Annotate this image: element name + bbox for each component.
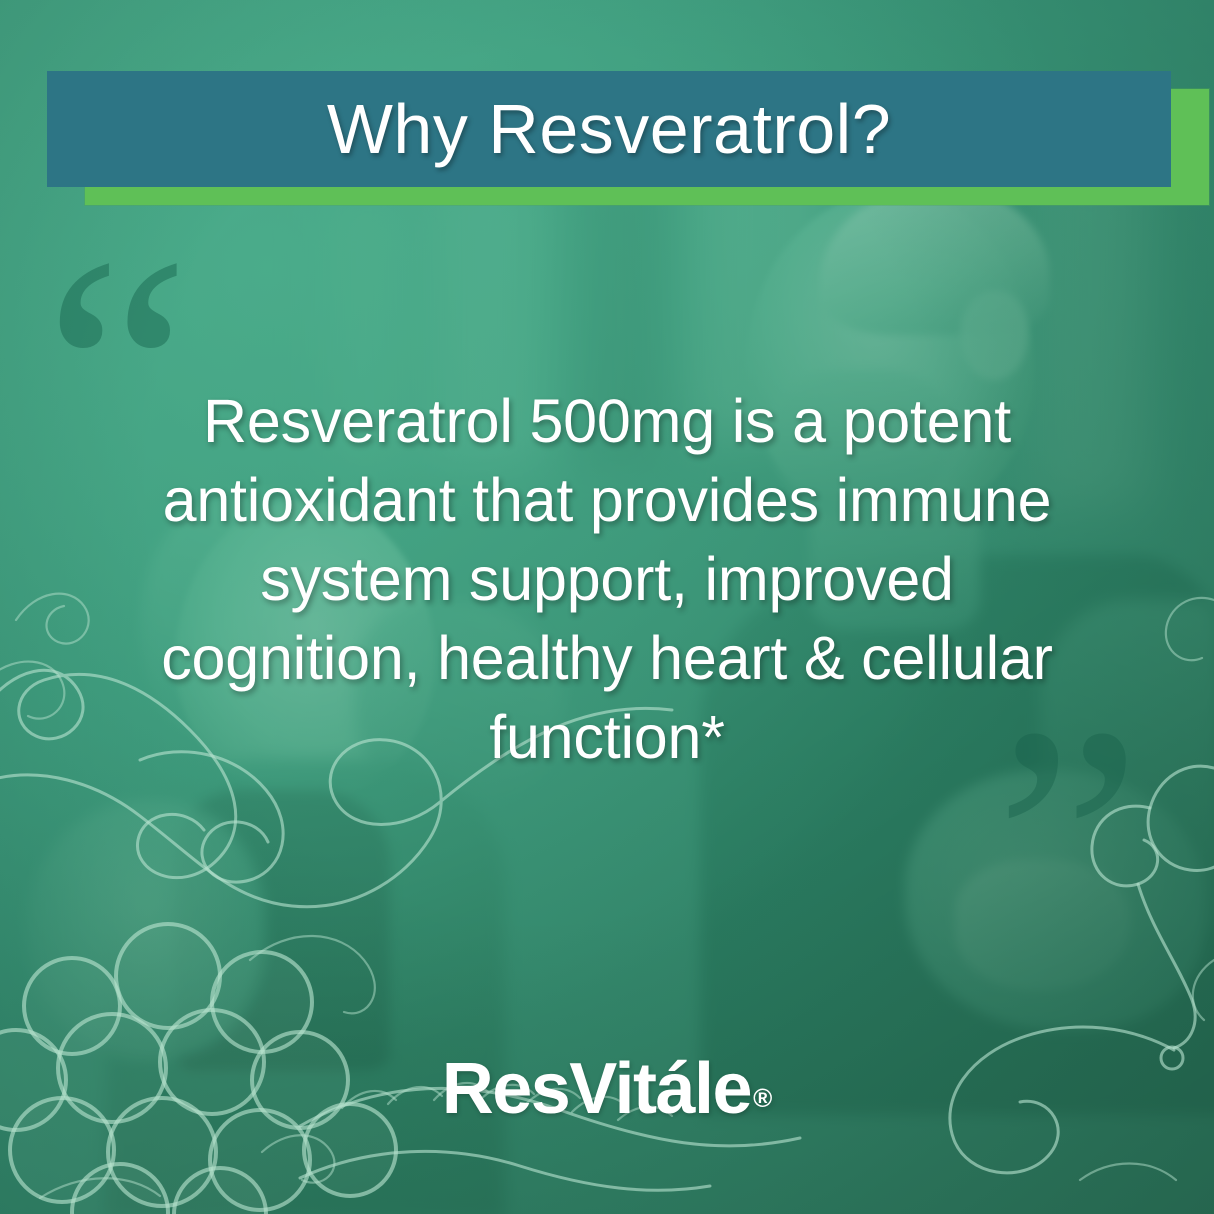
registered-trademark-icon: ® <box>753 1083 772 1113</box>
promo-image-canvas: “ ” <box>0 0 1214 1214</box>
quote-line-2: antioxidant that provides immune <box>107 461 1107 540</box>
header-banner: Why Resveratrol? <box>47 71 1171 187</box>
quote-line-3: system support, improved <box>107 540 1107 619</box>
quote-text-block: Resveratrol 500mg is a potent antioxidan… <box>107 382 1107 777</box>
quote-line-1: Resveratrol 500mg is a potent <box>107 382 1107 461</box>
brand-logo: ResVitále® <box>0 1048 1214 1130</box>
banner-teal-panel: Why Resveratrol? <box>47 71 1171 187</box>
quote-line-5: function* <box>107 698 1107 777</box>
brand-name: ResVitále <box>442 1049 751 1129</box>
page-title: Why Resveratrol? <box>327 89 891 169</box>
quote-line-4: cognition, healthy heart & cellular <box>107 619 1107 698</box>
